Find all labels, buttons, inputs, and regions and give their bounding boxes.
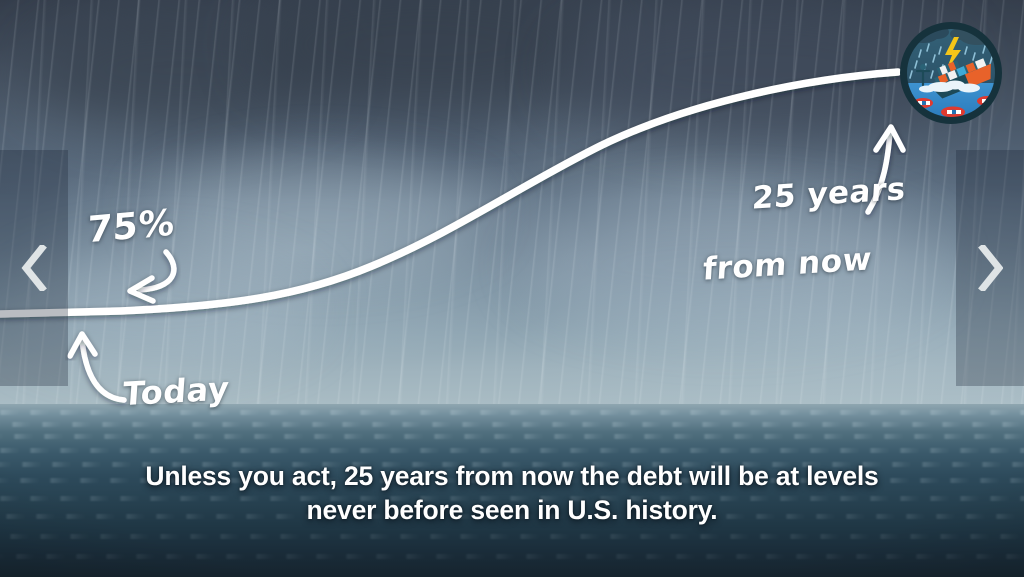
sinking-ship-storm-badge <box>897 19 1005 127</box>
badge-mast-light <box>920 64 926 70</box>
today-callout-arrow <box>82 340 124 400</box>
future-annotation-label: 25 years from now <box>698 140 909 352</box>
chevron-right-icon <box>977 245 1003 291</box>
caption-line-1: Unless you act, 25 years from now the de… <box>145 461 878 491</box>
slide-caption: Unless you act, 25 years from now the de… <box>0 460 1024 527</box>
prev-slide-button[interactable] <box>0 150 68 386</box>
percent-annotation-label: 75% <box>87 204 176 250</box>
future-annotation-line2: from now <box>702 241 903 286</box>
today-annotation-label: Today <box>122 372 231 411</box>
caption-line-2: never before seen in U.S. history. <box>56 494 968 528</box>
next-slide-button[interactable] <box>956 150 1024 386</box>
slide-stage: 75% Today 25 years from now <box>0 0 1024 577</box>
future-annotation-line1: 25 years <box>751 171 907 217</box>
chevron-left-icon <box>21 245 47 291</box>
